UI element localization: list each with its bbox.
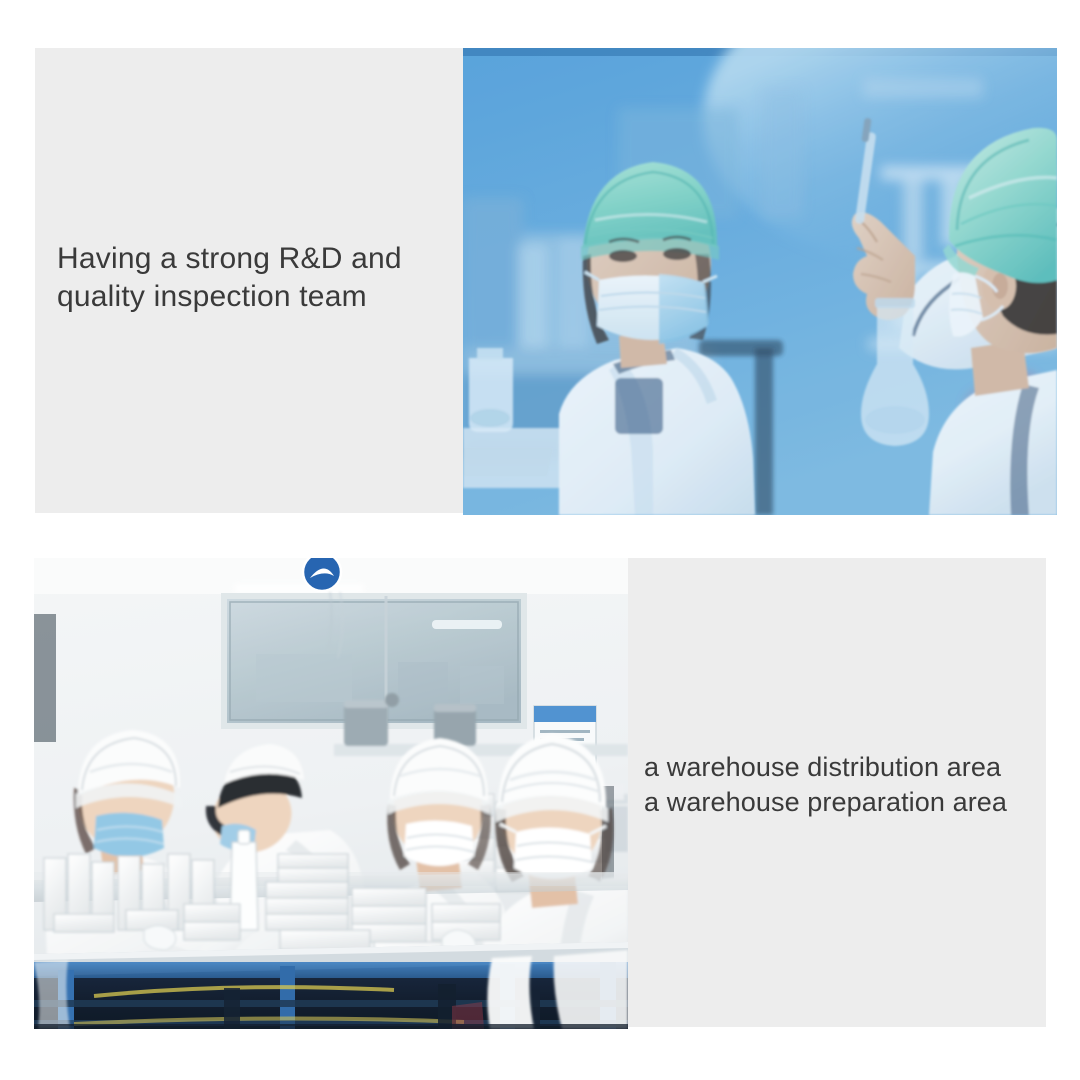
page-root: Having a strong R&D and quality inspecti…	[0, 0, 1080, 1080]
section-bottom: a warehouse distribution area a warehous…	[34, 558, 1046, 1029]
top-text-panel: Having a strong R&D and quality inspecti…	[35, 48, 463, 513]
warehouse-packaging-illustration	[34, 558, 628, 1029]
bottom-text-panel: a warehouse distribution area a warehous…	[628, 558, 1046, 1027]
bottom-photo-warehouse	[34, 558, 628, 1029]
top-photo-lab	[463, 48, 1057, 515]
section-top: Having a strong R&D and quality inspecti…	[35, 48, 1057, 515]
bottom-caption: a warehouse distribution area a warehous…	[644, 750, 1044, 820]
top-caption: Having a strong R&D and quality inspecti…	[57, 240, 457, 315]
lab-inspection-illustration	[463, 48, 1057, 515]
